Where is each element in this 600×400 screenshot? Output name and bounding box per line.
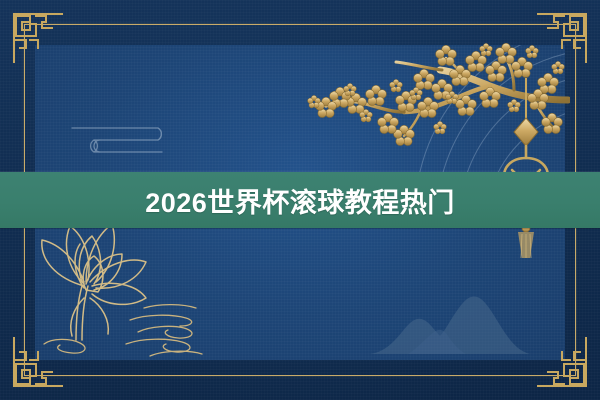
arc-lines-decoration — [305, 45, 565, 295]
title-banner: 2026世界杯滚球教程热门 — [0, 172, 600, 228]
banner-image: 2026世界杯滚球教程热门 — [0, 0, 600, 400]
banner-title-text: 2026世界杯滚球教程热门 — [145, 181, 455, 220]
